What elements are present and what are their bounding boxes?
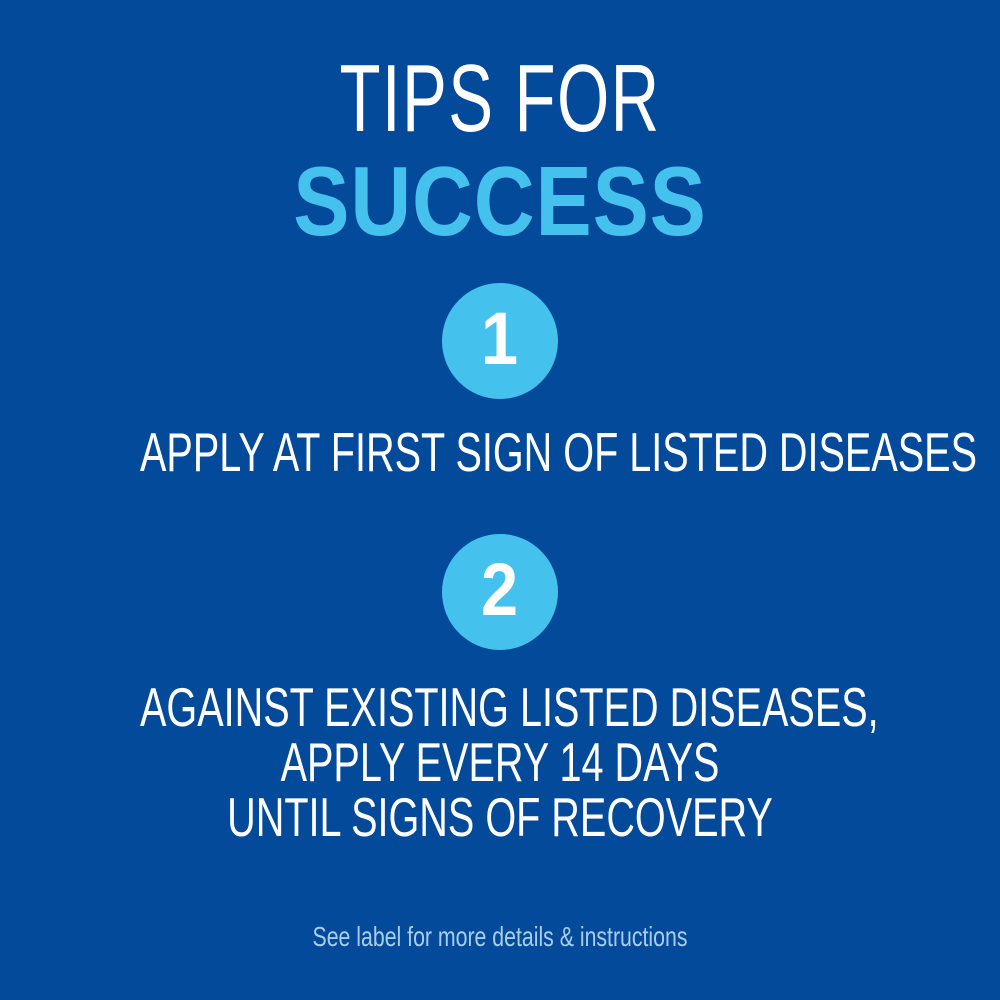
tip-text-line: APPLY AT FIRST SIGN OF LISTED DISEASES bbox=[140, 425, 860, 480]
tip-text-line: APPLY EVERY 14 DAYS bbox=[140, 735, 860, 790]
tip-text-line: AGAINST EXISTING LISTED DISEASES, bbox=[140, 680, 860, 735]
tip-text-line: UNTIL SIGNS OF RECOVERY bbox=[140, 790, 860, 845]
tip-text-2: AGAINST EXISTING LISTED DISEASES, APPLY … bbox=[140, 680, 860, 845]
tip-item-2: 2 AGAINST EXISTING LISTED DISEASES, APPL… bbox=[0, 534, 1000, 845]
tip-item-1: 1 APPLY AT FIRST SIGN OF LISTED DISEASES bbox=[0, 283, 1000, 480]
title-line-primary: TIPS FOR bbox=[150, 52, 850, 146]
tip-text-1: APPLY AT FIRST SIGN OF LISTED DISEASES bbox=[140, 425, 860, 480]
page-title: TIPS FOR SUCCESS bbox=[0, 52, 1000, 250]
tips-for-success-poster: TIPS FOR SUCCESS 1 APPLY AT FIRST SIGN O… bbox=[0, 0, 1000, 1000]
tip-badge-number-1: 1 bbox=[481, 302, 518, 376]
tip-badge-1: 1 bbox=[442, 283, 558, 399]
tip-badge-number-2: 2 bbox=[481, 553, 518, 627]
title-line-accent: SUCCESS bbox=[70, 152, 930, 250]
footer-note: See label for more details & instruction… bbox=[120, 921, 880, 953]
tip-badge-2: 2 bbox=[442, 534, 558, 650]
